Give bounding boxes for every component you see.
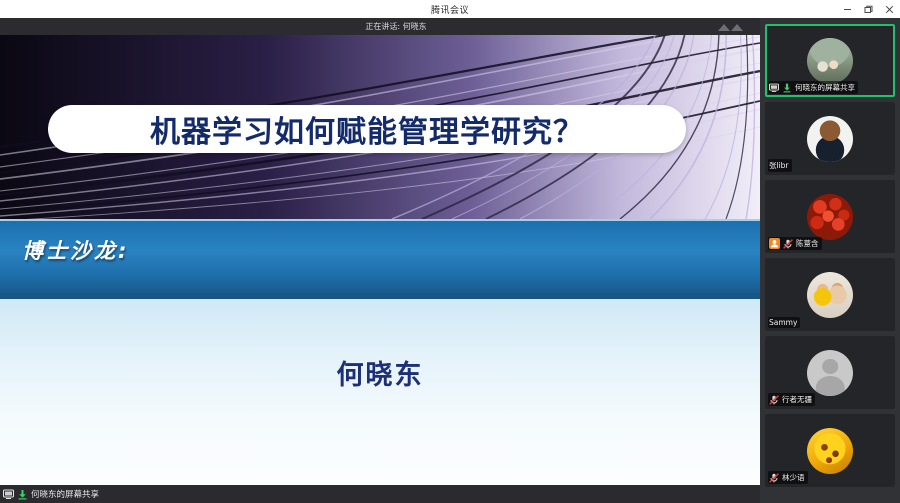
participant-name: 陈薏含 bbox=[796, 238, 819, 249]
participant-label: 行者无疆 bbox=[768, 393, 815, 406]
mic-muted-icon bbox=[769, 395, 779, 405]
participant-tile[interactable]: Sammy bbox=[765, 258, 895, 331]
avatar bbox=[807, 350, 853, 396]
participant-label: Sammy bbox=[768, 317, 800, 328]
avatar bbox=[807, 428, 853, 474]
screen-share-icon bbox=[769, 83, 779, 93]
participant-name: 林少语 bbox=[782, 472, 805, 483]
maximize-button[interactable] bbox=[858, 0, 879, 18]
slide-subtitle: 博士沙龙: bbox=[22, 235, 129, 265]
audio-download-icon bbox=[17, 489, 28, 500]
participant-label: 何晓东的屏幕共享 bbox=[768, 81, 858, 94]
participant-label: 张libr bbox=[768, 159, 792, 172]
participant-label: 陈薏含 bbox=[768, 237, 822, 250]
participant-label: 林少语 bbox=[768, 471, 808, 484]
tencent-meeting-window: 腾讯会议 bbox=[0, 0, 900, 503]
minimize-button[interactable] bbox=[837, 0, 858, 18]
screen-share-icon bbox=[3, 489, 14, 500]
window-title: 腾讯会议 bbox=[431, 3, 469, 16]
participant-filmstrip[interactable]: 何晓东的屏幕共享张libr陈薏含Sammy行者无疆林少语 bbox=[760, 18, 900, 503]
share-status-text: 何晓东的屏幕共享 bbox=[31, 488, 99, 500]
slide-title: 机器学习如何赋能管理学研究？ bbox=[150, 107, 584, 151]
window-titlebar[interactable]: 腾讯会议 bbox=[0, 0, 900, 19]
participant-tile[interactable]: 张libr bbox=[765, 102, 895, 175]
presentation-slide: 博士沙龙: 机器学习如何赋能管理学研究？ 何晓东 bbox=[0, 35, 760, 485]
share-status-bar[interactable]: 何晓东的屏幕共享 bbox=[0, 485, 760, 503]
participant-name: 何晓东的屏幕共享 bbox=[795, 82, 855, 93]
participant-tile[interactable]: 林少语 bbox=[765, 414, 895, 487]
speaking-indicator-label: 正在讲话: 何晓东 bbox=[365, 21, 426, 32]
participant-tile[interactable]: 陈薏含 bbox=[765, 180, 895, 253]
slide-title-pill: 机器学习如何赋能管理学研究？ bbox=[48, 105, 686, 153]
mic-on-icon bbox=[782, 83, 792, 93]
avatar bbox=[807, 38, 853, 84]
avatar bbox=[807, 272, 853, 318]
participant-name: Sammy bbox=[769, 318, 797, 327]
window-controls bbox=[837, 0, 900, 18]
shared-screen-stage[interactable]: 博士沙龙: 机器学习如何赋能管理学研究？ 何晓东 正在讲话: 何晓东 bbox=[0, 18, 760, 485]
participant-name: 行者无疆 bbox=[782, 394, 812, 405]
host-badge-icon bbox=[769, 238, 780, 249]
close-button[interactable] bbox=[879, 0, 900, 18]
avatar bbox=[807, 194, 853, 240]
avatar bbox=[807, 116, 853, 162]
mic-muted-icon bbox=[769, 473, 779, 483]
mic-muted-icon bbox=[783, 239, 793, 249]
participant-name: 张libr bbox=[769, 160, 789, 171]
slide-title-band: 博士沙龙: bbox=[0, 219, 760, 299]
double-chevron-up-icon[interactable] bbox=[716, 20, 746, 33]
slide-speaker-name: 何晓东 bbox=[0, 353, 760, 392]
participant-tile[interactable]: 行者无疆 bbox=[765, 336, 895, 409]
share-topbar[interactable]: 正在讲话: 何晓东 bbox=[0, 18, 760, 35]
participant-tile[interactable]: 何晓东的屏幕共享 bbox=[765, 24, 895, 97]
